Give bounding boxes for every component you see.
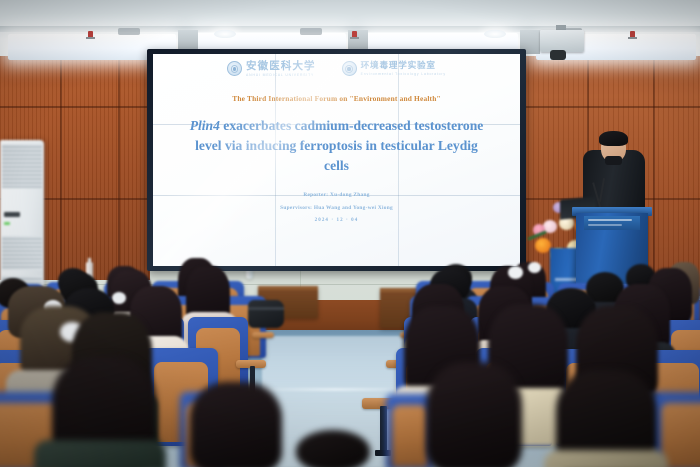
presentation-photo: 安徽医科大学 ANHUI MEDICAL UNIVERSITY 环境毒理学实验室… (0, 0, 700, 467)
led-video-wall[interactable]: 安徽医科大学 ANHUI MEDICAL UNIVERSITY 环境毒理学实验室… (147, 49, 526, 271)
university-logo-en: ANHUI MEDICAL UNIVERSITY (246, 74, 316, 77)
presenter-collar (605, 156, 622, 165)
slide-reporter: Reporter: Xu-dong Zhang (303, 192, 369, 198)
slide-supervisors: Supervisors: Hua Wang and Yong-wei Xiong (280, 205, 393, 211)
sprinkler-head-icon (630, 31, 635, 38)
university-logo-cn: 安徽医科大学 (246, 61, 316, 72)
slide-date: 2024 · 12 · 04 (315, 218, 359, 223)
slide-title-gene: Plin4 (190, 118, 220, 133)
ceiling-downlight (214, 30, 236, 38)
sprinkler-head-icon (88, 31, 93, 38)
slide-title-line1: exacerbates cadmium-decreased (220, 118, 411, 133)
sprinkler-head-icon (352, 31, 357, 38)
slide-main-title: Plin4 exacerbates cadmium-decreased test… (187, 116, 487, 176)
slide-logo-row: 安徽医科大学 ANHUI MEDICAL UNIVERSITY 环境毒理学实验室… (153, 61, 520, 77)
university-logo: 安徽医科大学 ANHUI MEDICAL UNIVERSITY (227, 61, 316, 77)
laboratory-logo-en: Environmental Toxicology Laboratory (361, 73, 446, 76)
projector-lens-icon (550, 50, 566, 60)
ceiling-downlight (484, 30, 506, 38)
ceiling-vent (300, 28, 322, 35)
armrest (252, 332, 274, 338)
ceiling-vent (118, 28, 140, 35)
forum-subtitle: The Third International Forum on "Enviro… (232, 94, 441, 103)
university-crest-icon (227, 61, 242, 76)
ceiling-projector (540, 30, 584, 52)
projection-screen-surface[interactable]: 安徽医科大学 ANHUI MEDICAL UNIVERSITY 环境毒理学实验室… (153, 54, 520, 266)
presenter-hair (599, 131, 628, 146)
laboratory-logo-cn: 环境毒理学实验室 (361, 62, 446, 71)
podium-banner (584, 216, 640, 230)
laboratory-crest-icon (342, 61, 357, 76)
slide-content: 安徽医科大学 ANHUI MEDICAL UNIVERSITY 环境毒理学实验室… (153, 54, 520, 266)
laboratory-logo: 环境毒理学实验室 Environmental Toxicology Labora… (342, 61, 446, 76)
slide-credits: Reporter: Xu-dong Zhang Supervisors: Hua… (280, 192, 393, 223)
backpack (248, 300, 284, 328)
